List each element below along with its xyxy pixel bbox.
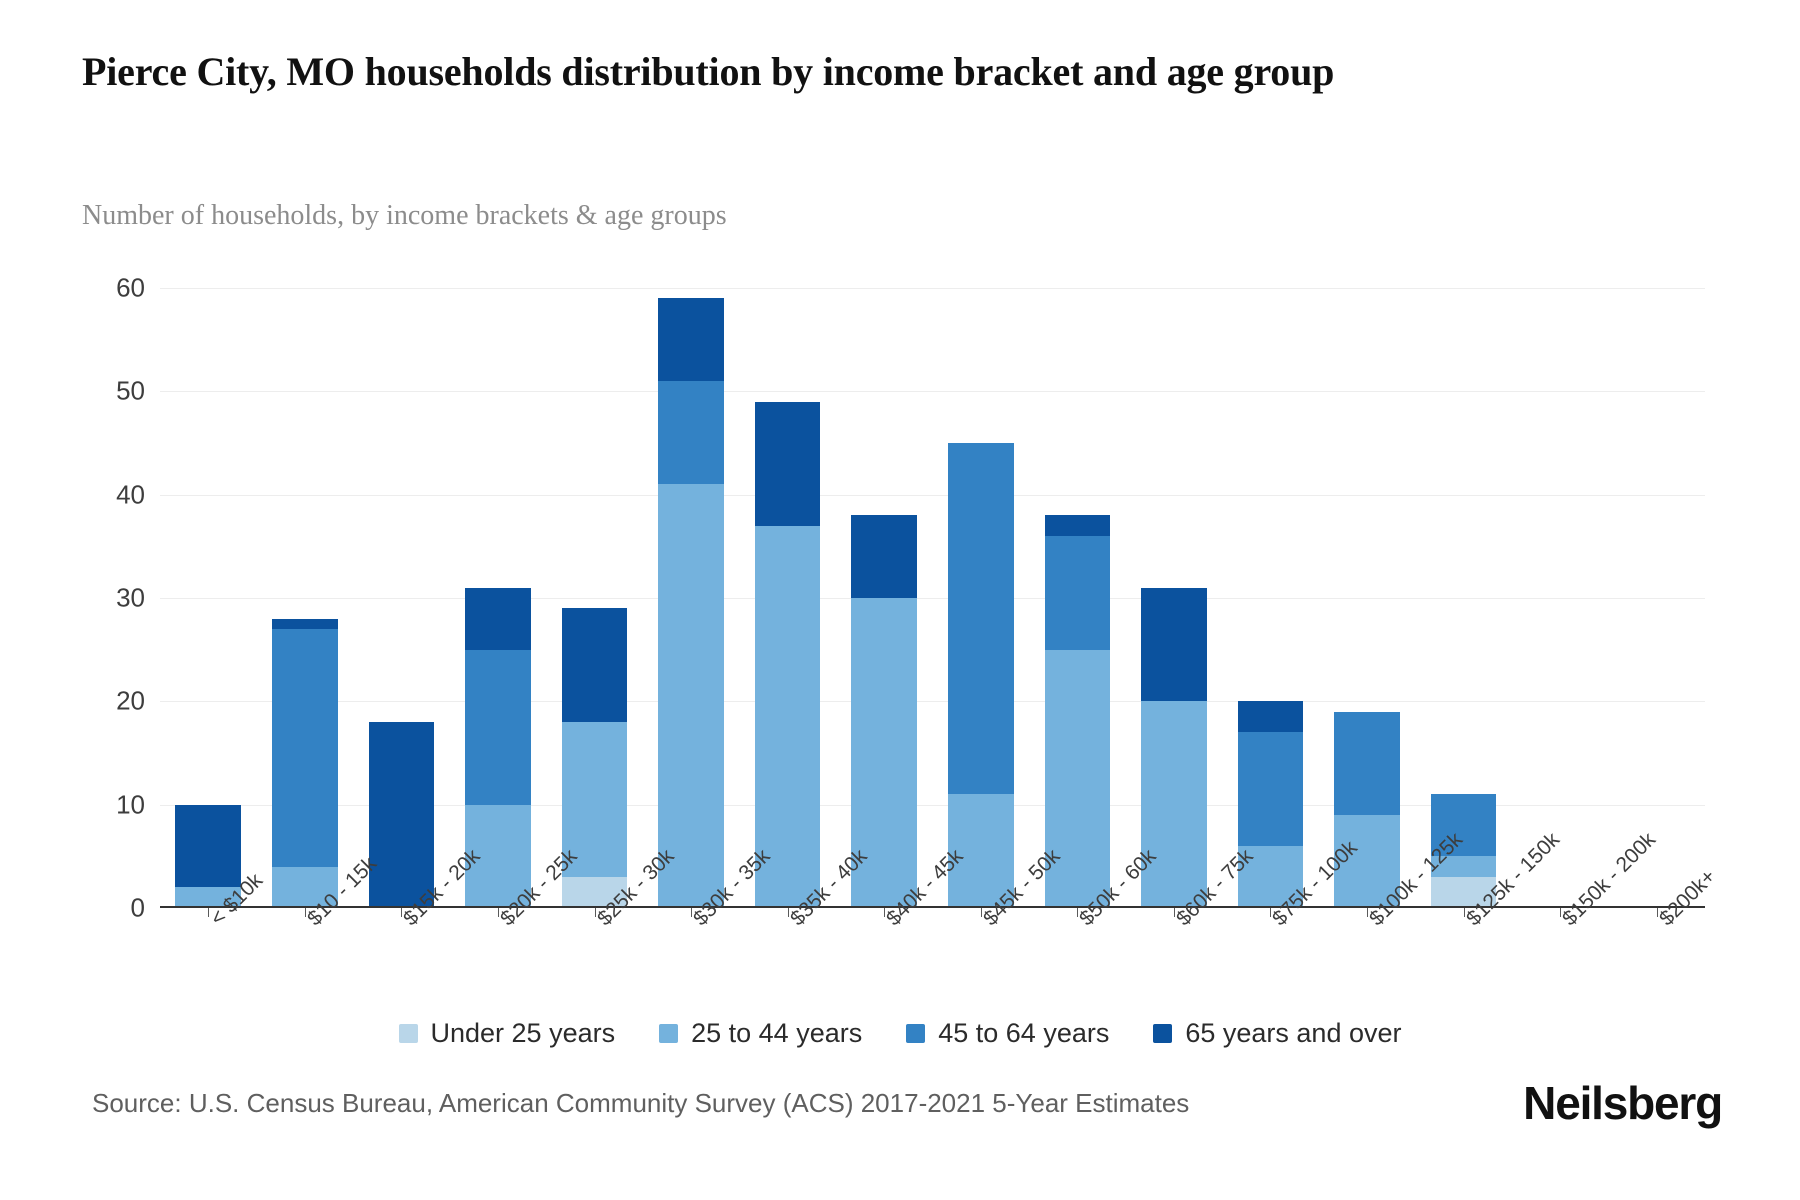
x-label-slot: $20k - 25k: [450, 912, 547, 1032]
bar-group[interactable]: [546, 288, 643, 908]
bar-segment[interactable]: [851, 515, 917, 598]
x-label-slot: $40k - 45k: [836, 912, 933, 1032]
bar-group[interactable]: [1222, 288, 1319, 908]
legend-item[interactable]: 65 years and over: [1153, 1018, 1401, 1049]
bar-stack[interactable]: [1238, 701, 1304, 908]
bar-stack[interactable]: [851, 515, 917, 908]
y-axis-tick-label: 30: [25, 583, 145, 614]
bar-group[interactable]: [1512, 288, 1609, 908]
chart-page: Pierce City, MO households distribution …: [0, 0, 1800, 1200]
y-axis-tick-label: 20: [25, 686, 145, 717]
bar-group[interactable]: [450, 288, 547, 908]
bar-group[interactable]: [739, 288, 836, 908]
x-label-slot: $10 - 15k: [257, 912, 354, 1032]
bar-group[interactable]: [1029, 288, 1126, 908]
bar-segment[interactable]: [465, 588, 531, 650]
y-axis-tick-label: 10: [25, 789, 145, 820]
legend-label: 45 to 64 years: [938, 1018, 1109, 1049]
bar-group[interactable]: [257, 288, 354, 908]
bar-segment[interactable]: [1141, 588, 1207, 702]
bar-group[interactable]: [1319, 288, 1416, 908]
bar-segment[interactable]: [948, 443, 1014, 794]
x-label-slot: $125k - 150k: [1415, 912, 1512, 1032]
bar-group[interactable]: [353, 288, 450, 908]
x-label-slot: $35k - 40k: [739, 912, 836, 1032]
x-label-slot: $30k - 35k: [643, 912, 740, 1032]
x-label-slot: $100k - 125k: [1319, 912, 1416, 1032]
legend-swatch-icon: [906, 1024, 925, 1043]
x-label-slot: $50k - 60k: [1029, 912, 1126, 1032]
y-axis-tick-label: 60: [25, 273, 145, 304]
x-label-slot: $75k - 100k: [1222, 912, 1319, 1032]
bar-group[interactable]: [1415, 288, 1512, 908]
bar-group[interactable]: [160, 288, 257, 908]
legend-swatch-icon: [1153, 1024, 1172, 1043]
legend-swatch-icon: [659, 1024, 678, 1043]
page-title: Pierce City, MO households distribution …: [82, 48, 1672, 97]
x-label-slot: $60k - 75k: [1126, 912, 1223, 1032]
x-label-slot: $45k - 50k: [933, 912, 1030, 1032]
y-axis-tick-label: 40: [25, 479, 145, 510]
page-subtitle: Number of households, by income brackets…: [82, 200, 1482, 232]
bar-segment[interactable]: [1238, 701, 1304, 732]
bar-stack[interactable]: [369, 722, 435, 908]
bar-group[interactable]: [1126, 288, 1223, 908]
y-axis-tick-label: 50: [25, 376, 145, 407]
x-axis-labels: < $10k$10 - 15k$15k - 20k$20k - 25k$25k …: [160, 912, 1705, 1032]
bar-segment[interactable]: [658, 484, 724, 908]
bar-stack[interactable]: [948, 443, 1014, 908]
x-label-slot: $25k - 30k: [546, 912, 643, 1032]
bar-segment[interactable]: [658, 298, 724, 381]
y-axis-tick-label: 0: [25, 893, 145, 924]
bar-group[interactable]: [643, 288, 740, 908]
bar-stack[interactable]: [755, 402, 821, 908]
bar-segment[interactable]: [1334, 712, 1400, 815]
x-label-slot: $200k+: [1608, 912, 1705, 1032]
chart-legend: Under 25 years25 to 44 years45 to 64 yea…: [0, 1018, 1800, 1049]
bar-segment[interactable]: [272, 619, 338, 629]
bar-segment[interactable]: [272, 629, 338, 867]
legend-item[interactable]: Under 25 years: [399, 1018, 616, 1049]
legend-label: 65 years and over: [1185, 1018, 1401, 1049]
bar-segment[interactable]: [1045, 536, 1111, 650]
bar-series-container: [160, 288, 1705, 908]
legend-label: Under 25 years: [431, 1018, 616, 1049]
legend-item[interactable]: 45 to 64 years: [906, 1018, 1109, 1049]
bar-group[interactable]: [1608, 288, 1705, 908]
legend-item[interactable]: 25 to 44 years: [659, 1018, 862, 1049]
x-label-slot: $150k - 200k: [1512, 912, 1609, 1032]
bar-stack[interactable]: [1045, 515, 1111, 908]
bar-segment[interactable]: [1141, 701, 1207, 908]
brand-logo: Neilsberg: [1523, 1076, 1722, 1130]
bar-stack[interactable]: [658, 298, 724, 908]
bar-segment[interactable]: [658, 381, 724, 484]
bar-segment[interactable]: [369, 722, 435, 908]
bar-segment[interactable]: [465, 650, 531, 805]
bar-segment[interactable]: [175, 805, 241, 888]
source-note: Source: U.S. Census Bureau, American Com…: [92, 1088, 1189, 1119]
bar-group[interactable]: [836, 288, 933, 908]
bar-segment[interactable]: [1238, 732, 1304, 846]
bar-segment[interactable]: [562, 608, 628, 722]
legend-label: 25 to 44 years: [691, 1018, 862, 1049]
bar-segment[interactable]: [755, 402, 821, 526]
bar-stack[interactable]: [1334, 712, 1400, 908]
bar-segment[interactable]: [1045, 515, 1111, 536]
bar-group[interactable]: [933, 288, 1030, 908]
legend-swatch-icon: [399, 1024, 418, 1043]
bar-stack[interactable]: [272, 619, 338, 908]
x-label-slot: < $10k: [160, 912, 257, 1032]
plot-area: 0102030405060: [160, 288, 1705, 908]
x-label-slot: $15k - 20k: [353, 912, 450, 1032]
